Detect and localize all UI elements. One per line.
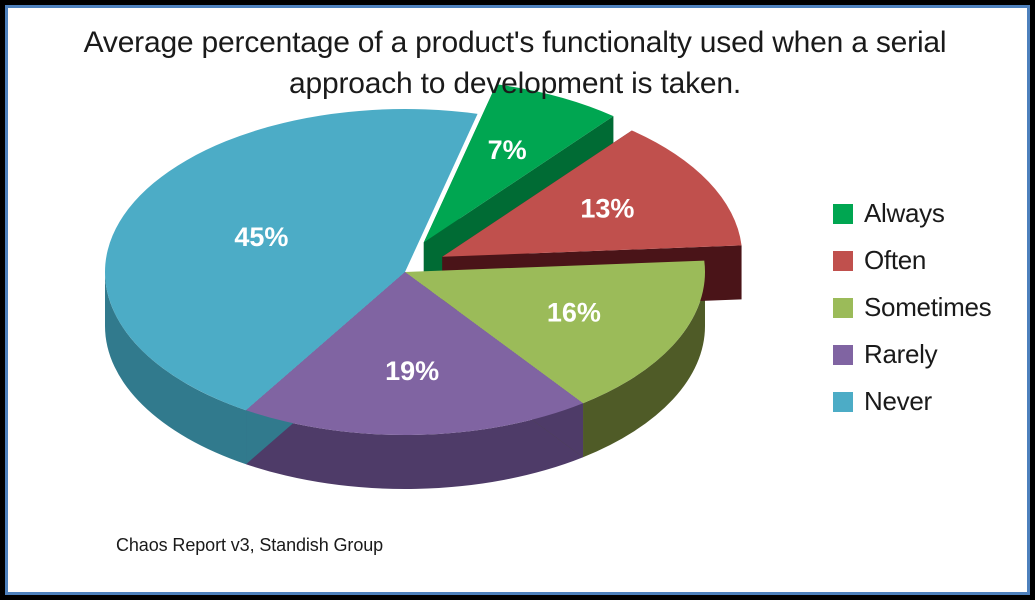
chart-title-line-2: approach to development is taken. [40, 63, 990, 104]
legend-item-always[interactable]: Always [833, 190, 1023, 237]
legend-item-sometimes[interactable]: Sometimes [833, 284, 1023, 331]
pie-slice-label-never: 45% [234, 222, 288, 252]
legend-item-never[interactable]: Never [833, 378, 1023, 425]
pie-3d-group [105, 84, 742, 489]
chart-title-line-1: Average percentage of a product's functi… [40, 22, 990, 63]
legend-swatch-sometimes [833, 298, 853, 318]
chart-legend: AlwaysOftenSometimesRarelyNever [833, 190, 1023, 425]
chart-image-frame: 7%13%16%19%45% Average percentage of a p… [0, 0, 1035, 600]
legend-label-sometimes: Sometimes [864, 292, 991, 323]
legend-item-rarely[interactable]: Rarely [833, 331, 1023, 378]
pie-slice-label-often: 13% [580, 193, 634, 223]
legend-label-never: Never [864, 386, 932, 417]
legend-swatch-always [833, 204, 853, 224]
pie-slice-label-rarely: 19% [385, 356, 439, 386]
legend-item-often[interactable]: Often [833, 237, 1023, 284]
chart-source-note: Chaos Report v3, Standish Group [116, 535, 383, 556]
pie-slice-label-sometimes: 16% [547, 298, 601, 328]
pie-slice-label-always: 7% [488, 135, 527, 165]
legend-label-always: Always [864, 198, 945, 229]
legend-label-often: Often [864, 245, 926, 276]
legend-swatch-often [833, 251, 853, 271]
legend-label-rarely: Rarely [864, 339, 937, 370]
page-title: Average percentage of a product's functi… [40, 22, 990, 105]
legend-swatch-rarely [833, 345, 853, 365]
legend-swatch-never [833, 392, 853, 412]
